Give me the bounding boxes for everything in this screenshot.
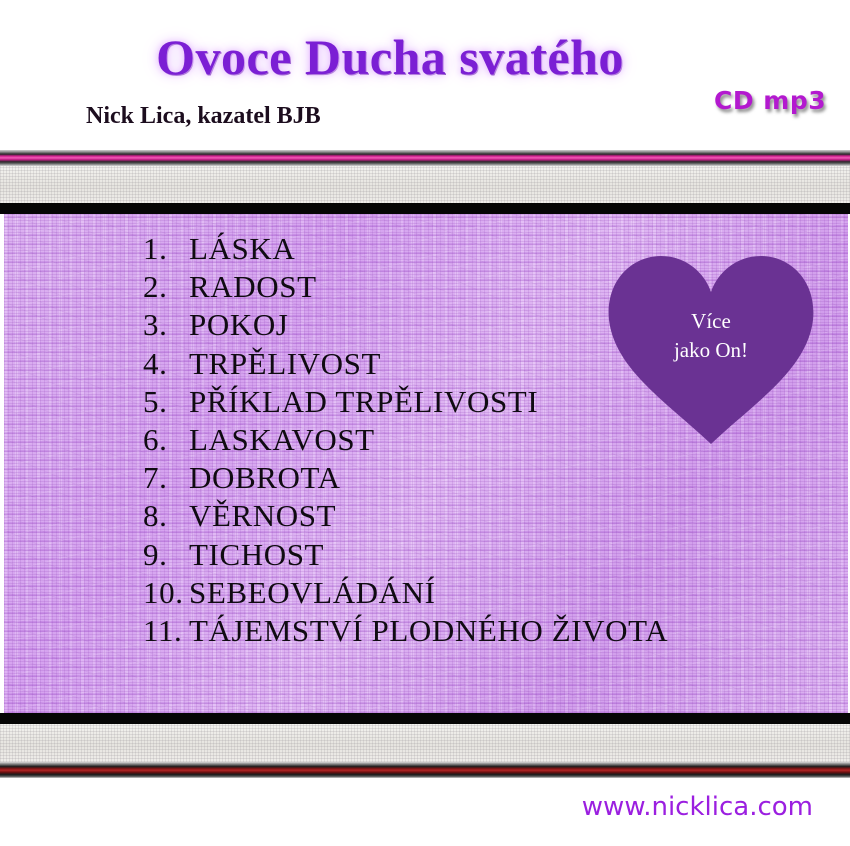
track-title: SEBEOVLÁDÁNÍ	[189, 574, 436, 612]
cover-header: Ovoce Ducha svatého Nick Lica, kazatel B…	[0, 0, 850, 150]
track-number: 8.	[143, 497, 189, 535]
list-item: 7. DOBROTA	[143, 459, 668, 497]
cd-cover: Ovoce Ducha svatého Nick Lica, kazatel B…	[0, 0, 850, 846]
heart-badge: Více jako On!	[605, 252, 817, 448]
tracklist: 1. LÁSKA 2. RADOST 3. POKOJ 4. TRPĚLIVOS…	[143, 230, 668, 650]
track-number: 3.	[143, 306, 189, 344]
list-item: 11. TÁJEMSTVÍ PLODNÉHO ŽIVOTA	[143, 612, 668, 650]
list-item: 5. PŘÍKLAD TRPĚLIVOSTI	[143, 383, 668, 421]
track-title: TRPĚLIVOST	[189, 345, 381, 383]
heart-caption-line2: jako On!	[605, 336, 817, 365]
track-number: 11.	[143, 612, 189, 650]
track-number: 4.	[143, 345, 189, 383]
bottom-linen-band	[0, 724, 850, 762]
track-title: RADOST	[189, 268, 317, 306]
tracklist-panel: 1. LÁSKA 2. RADOST 3. POKOJ 4. TRPĚLIVOS…	[4, 214, 848, 713]
track-number: 7.	[143, 459, 189, 497]
track-title: LASKAVOST	[189, 421, 375, 459]
track-title: POKOJ	[189, 306, 288, 344]
track-number: 5.	[143, 383, 189, 421]
list-item: 10. SEBEOVLÁDÁNÍ	[143, 574, 668, 612]
list-item: 9. TICHOST	[143, 536, 668, 574]
track-title: VĚRNOST	[189, 497, 336, 535]
bottom-stripe-divider	[0, 762, 850, 778]
list-item: 1. LÁSKA	[143, 230, 668, 268]
track-title: TICHOST	[189, 536, 324, 574]
track-number: 2.	[143, 268, 189, 306]
bottom-black-band	[0, 713, 850, 724]
list-item: 6. LASKAVOST	[143, 421, 668, 459]
cover-footer: www.nicklica.com	[0, 778, 850, 846]
top-linen-band	[0, 166, 850, 204]
track-title: DOBROTA	[189, 459, 341, 497]
format-badge: CD mp3	[714, 86, 826, 115]
track-number: 9.	[143, 536, 189, 574]
track-number: 6.	[143, 421, 189, 459]
list-item: 3. POKOJ	[143, 306, 668, 344]
track-number: 1.	[143, 230, 189, 268]
heart-caption: Více jako On!	[605, 307, 817, 365]
page-title: Ovoce Ducha svatého	[0, 28, 780, 86]
track-title: LÁSKA	[189, 230, 295, 268]
list-item: 4. TRPĚLIVOST	[143, 345, 668, 383]
top-stripe-divider	[0, 150, 850, 166]
list-item: 2. RADOST	[143, 268, 668, 306]
track-title: TÁJEMSTVÍ PLODNÉHO ŽIVOTA	[189, 612, 668, 650]
list-item: 8. VĚRNOST	[143, 497, 668, 535]
heart-caption-line1: Více	[605, 307, 817, 336]
track-title: PŘÍKLAD TRPĚLIVOSTI	[189, 383, 538, 421]
top-black-band	[0, 203, 850, 214]
author-subtitle: Nick Lica, kazatel BJB	[86, 103, 321, 130]
website-url[interactable]: www.nicklica.com	[582, 792, 813, 822]
track-number: 10.	[143, 574, 189, 612]
